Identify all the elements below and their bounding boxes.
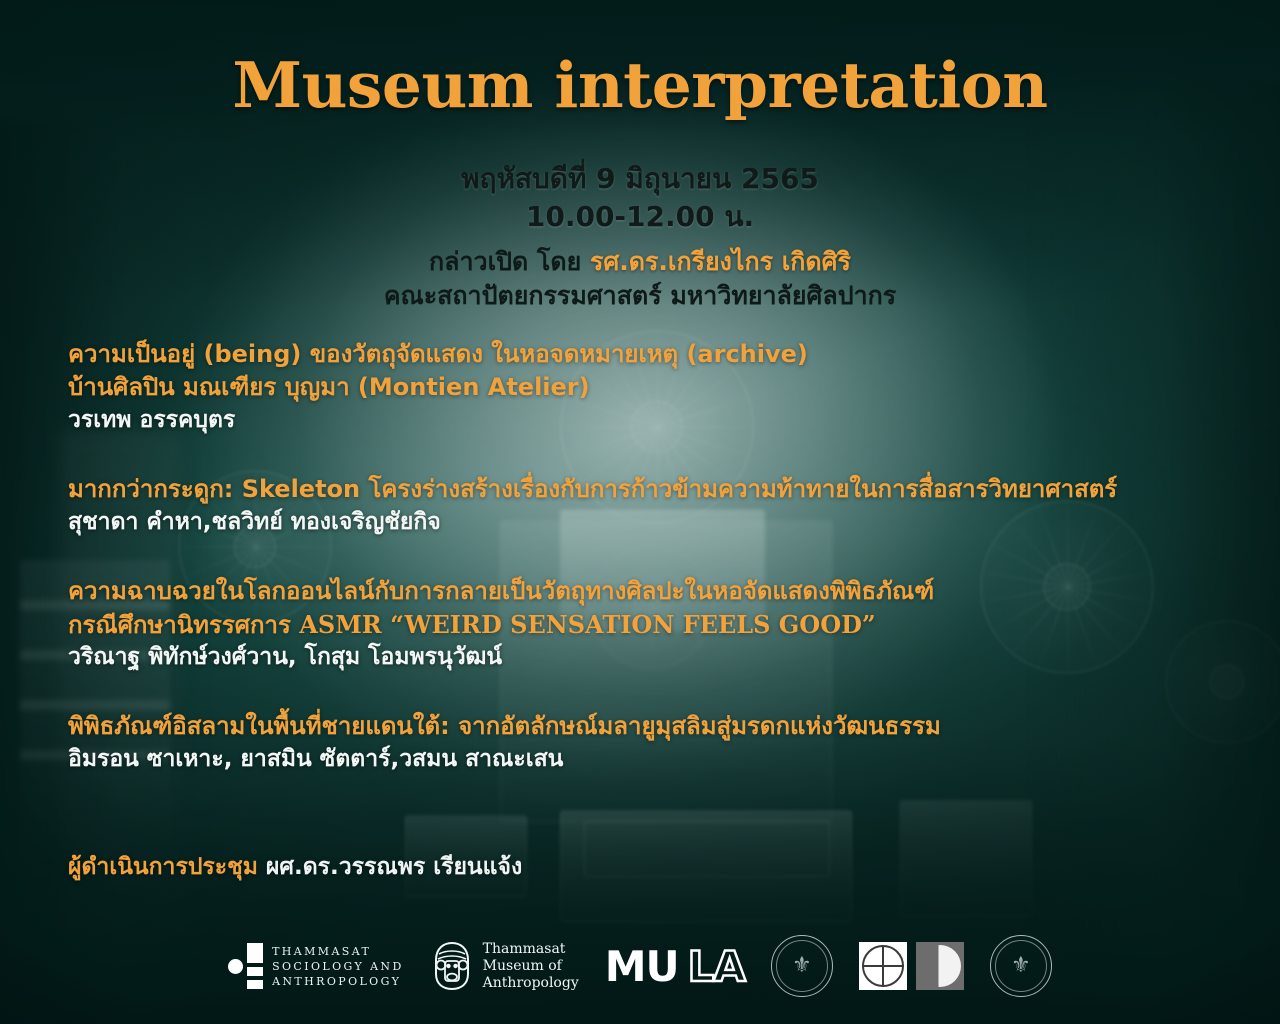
logo-thammasat-museum: Thammasat Museum of Anthropology [430,940,579,992]
mula-solid-text: MU [605,942,679,991]
opening-speaker-line: กล่าวเปิด โดย รศ.ดร.เกรียงไกร เกิดศิริ [0,245,1280,279]
talk-title-line: พิพิธภัณฑ์อิสลามในพื้นที่ชายแดนใต้: จากอ… [68,710,1228,743]
moderator-name: ผศ.ดร.วรรณพร เรียนแจ้ง [266,854,522,880]
geo-half-moon-icon [916,942,964,990]
geo-circle-cross-icon [859,942,907,990]
moderator-line: ผู้ดำเนินการประชุม ผศ.ดร.วรรณพร เรียนแจ้… [68,851,522,883]
opening-person: รศ.ดร.เกรียงไกร เกิดศิริ [590,247,851,276]
opening-prefix: กล่าวเปิด โดย [429,247,590,276]
mula-outline-text: LA [688,942,745,991]
talk-item: มากกว่ากระดูก: Skeleton โครงร่างสร้างเรื… [68,473,1228,539]
talk-title-line: ความฉาบฉวยในโลกออนไลน์กับการกลายเป็นวัตถ… [68,575,1228,608]
seal-glyph: ⚜ [1011,955,1031,977]
spacer [68,437,1228,473]
event-time: 10.00-12.00 น. [0,198,1280,236]
logo-line: Museum of [483,958,579,975]
spacer [68,674,1228,710]
thammasat-mark-icon [228,943,263,989]
logo-thammasat-sociology: THAMMASAT SOCIOLOGY AND ANTHROPOLOGY [228,943,404,989]
thammasat-sociology-text: THAMMASAT SOCIOLOGY AND ANTHROPOLOGY [272,944,404,989]
event-date: พฤหัสบดีที่ 9 มิถุนายน 2565 [0,160,1280,198]
talk-title-line: มากกว่ากระดูก: Skeleton โครงร่างสร้างเรื… [68,473,1228,506]
thammasat-museum-text: Thammasat Museum of Anthropology [483,941,579,992]
poster-title: Museum interpretation [0,48,1280,122]
talk-speakers: สุชาดา คำหา,ชลวิทย์ ทองเจริญชัยกิจ [68,506,1228,539]
talk-item: ความฉาบฉวยในโลกออนไลน์กับการกลายเป็นวัตถ… [68,575,1228,674]
logo-archaeology-seal: ⚜ [771,935,833,997]
logo-geometric [859,942,964,990]
spacer [68,539,1228,575]
poster-canvas: Museum interpretation พฤหัสบดีที่ 9 มิถุ… [0,0,1280,1024]
poster-content: Museum interpretation พฤหัสบดีที่ 9 มิถุ… [0,0,1280,1024]
event-datetime: พฤหัสบดีที่ 9 มิถุนายน 2565 10.00-12.00 … [0,160,1280,236]
talk-item: ความเป็นอยู่ (being) ของวัตถุจัดแสดง ในห… [68,338,1228,437]
talks-list: ความเป็นอยู่ (being) ของวัตถุจัดแสดง ในห… [68,338,1228,776]
talk-item: พิพิธภัณฑ์อิสลามในพื้นที่ชายแดนใต้: จากอ… [68,710,1228,776]
moderator-label: ผู้ดำเนินการประชุม [68,854,266,880]
logo-line: THAMMASAT [272,944,404,959]
talk-speakers: อิมรอน ซาเหาะ, ยาสมิน ซัตตาร์,วสมน สาณะเ… [68,743,1228,776]
anthropology-mask-icon [430,940,474,992]
talk-title-line: บ้านศิลปิน มณเฑียร บุญมา (Montien Atelie… [68,371,1228,404]
logo-line: SOCIOLOGY AND [272,959,404,974]
logo-silpakorn-seal: ⚜ [990,935,1052,997]
opening-remarks: กล่าวเปิด โดย รศ.ดร.เกรียงไกร เกิดศิริ ค… [0,245,1280,313]
logo-strip: THAMMASAT SOCIOLOGY AND ANTHROPOLOGY [0,926,1280,1006]
talk-title-line: กรณีศึกษานิทรรศการ ASMR “WEIRD SENSATION… [68,608,1228,641]
talk-speakers: วริณาฐ พิทักษ์วงศ์วาน, โกสุม โอมพรนุวัฒน… [68,641,1228,674]
opening-affiliation: คณะสถาปัตยกรรมศาสตร์ มหาวิทยาลัยศิลปากร [0,279,1280,313]
logo-line: Thammasat [483,941,579,958]
silpakorn-seal-icon: ⚜ [990,935,1052,997]
logo-line: ANTHROPOLOGY [272,974,404,989]
logo-mula: MULA [605,942,745,991]
seal-glyph: ⚜ [792,955,812,977]
talk-title-line: ความเป็นอยู่ (being) ของวัตถุจัดแสดง ในห… [68,338,1228,371]
talk-speakers: วรเทพ อรรคบุตร [68,404,1228,437]
logo-line: Anthropology [483,975,579,992]
university-seal-icon: ⚜ [771,935,833,997]
